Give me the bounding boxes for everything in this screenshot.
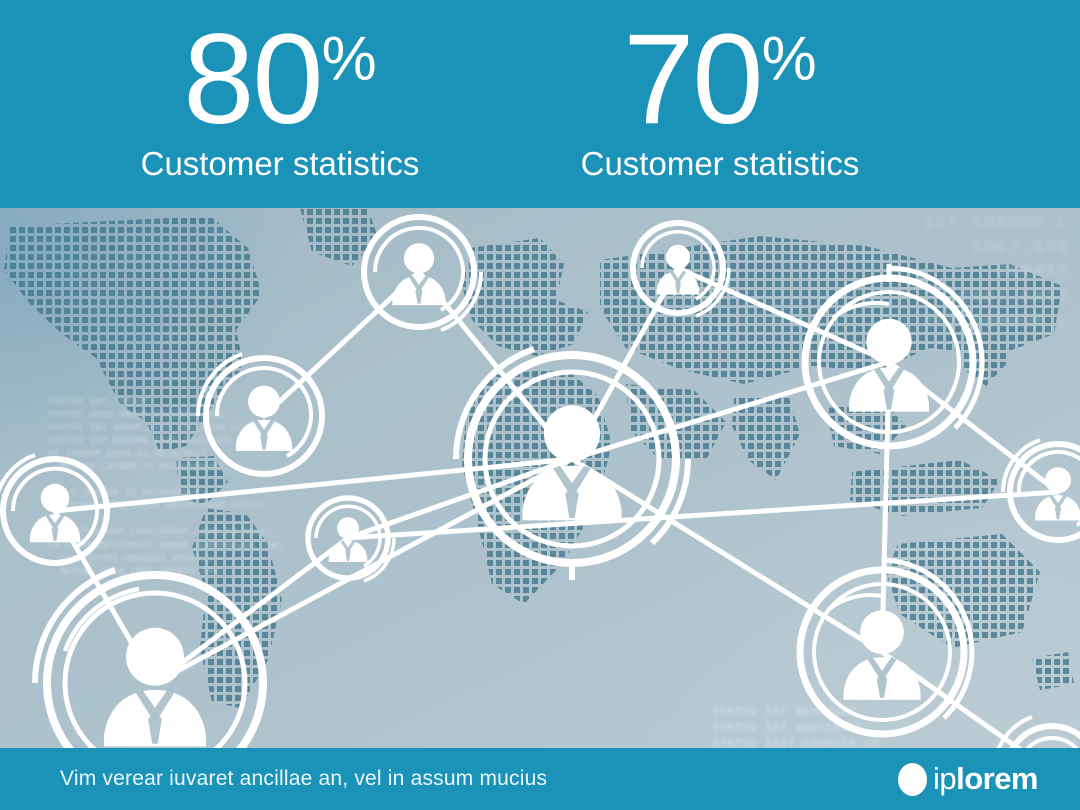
network-node-bottom-left[interactable]: [35, 570, 263, 748]
network-node-bottom-right[interactable]: [800, 560, 972, 734]
network-node-left-upper[interactable]: [198, 354, 322, 474]
stat-number-1: 80: [183, 8, 321, 151]
network-node-center[interactable]: [456, 349, 688, 580]
stat-label-2: Customer statistics: [500, 144, 940, 184]
infographic-slide: STATIC INT *GROUP STATIC VOID GROUP_CALL…: [0, 0, 1080, 810]
network-node-right-edge[interactable]: [1003, 440, 1080, 540]
circle-dot-icon: [898, 763, 927, 796]
percent-symbol-1: %: [322, 24, 377, 93]
network-illustration: STATIC INT *GROUP STATIC VOID GROUP_CALL…: [0, 208, 1080, 748]
network-graph: [0, 208, 1080, 748]
stat-label-1: Customer statistics: [60, 144, 500, 184]
network-node-corner-bottom-right[interactable]: [994, 717, 1080, 748]
stat-value-2: 70%: [500, 10, 940, 150]
footer-bar: Vim verear iuvaret ancillae an, vel in a…: [0, 748, 1080, 810]
network-node-top-right[interactable]: [805, 264, 982, 446]
footer-tagline: Vim verear iuvaret ancillae an, vel in a…: [60, 767, 547, 791]
stat-block-2: 70% Customer statistics: [500, 10, 940, 184]
percent-symbol-2: %: [762, 24, 817, 93]
stat-block-1: 80% Customer statistics: [60, 10, 500, 184]
stat-number-2: 70: [623, 8, 761, 151]
stat-value-1: 80%: [60, 10, 500, 150]
logo-emphasis: lorem: [956, 761, 1038, 796]
brand-logo[interactable]: iplorem: [898, 761, 1038, 797]
logo-prefix: ip: [933, 761, 956, 796]
header-bar: 80% Customer statistics 70% Customer sta…: [0, 0, 1080, 208]
link-midsmall-bottomleft: [155, 538, 348, 683]
logo-wordmark: iplorem: [933, 761, 1038, 797]
